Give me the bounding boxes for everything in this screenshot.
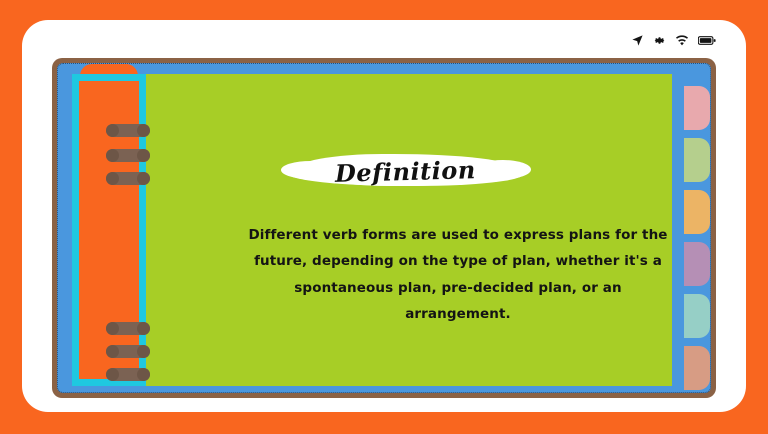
notebook-page: Definition Different verb forms are used… <box>138 74 672 386</box>
binder-ring-4 <box>106 322 150 335</box>
binder-ring-5 <box>106 345 150 358</box>
index-tab-4[interactable] <box>684 242 710 286</box>
notebook-cover: Definition Different verb forms are used… <box>57 63 711 393</box>
definition-body-text: Different verb forms are used to express… <box>248 222 668 327</box>
battery-icon <box>698 34 716 47</box>
screen-canvas: Definition Different verb forms are used… <box>0 0 768 434</box>
brush-stroke-left-tail <box>281 161 341 179</box>
index-tab-3[interactable] <box>684 190 710 234</box>
tablet-device: Definition Different verb forms are used… <box>22 20 746 412</box>
index-tab-6[interactable] <box>684 346 710 390</box>
binder-ring-1 <box>106 124 150 137</box>
binder-ring-2 <box>106 149 150 162</box>
index-tab-1[interactable] <box>684 86 710 130</box>
index-tab-2[interactable] <box>684 138 710 182</box>
gear-icon <box>653 34 666 47</box>
index-tab-5[interactable] <box>684 294 710 338</box>
binder-ring-3 <box>106 172 150 185</box>
title-brush-banner: Definition <box>287 152 523 190</box>
wifi-icon <box>675 34 689 47</box>
slide-title-area: Definition <box>138 152 672 190</box>
brush-stroke-right-tail <box>475 160 531 179</box>
status-bar <box>631 28 716 52</box>
binder-ring-6 <box>106 368 150 381</box>
notebook-frame: Definition Different verb forms are used… <box>52 58 716 398</box>
page-title: Definition <box>334 155 475 188</box>
location-arrow-icon <box>631 34 644 47</box>
